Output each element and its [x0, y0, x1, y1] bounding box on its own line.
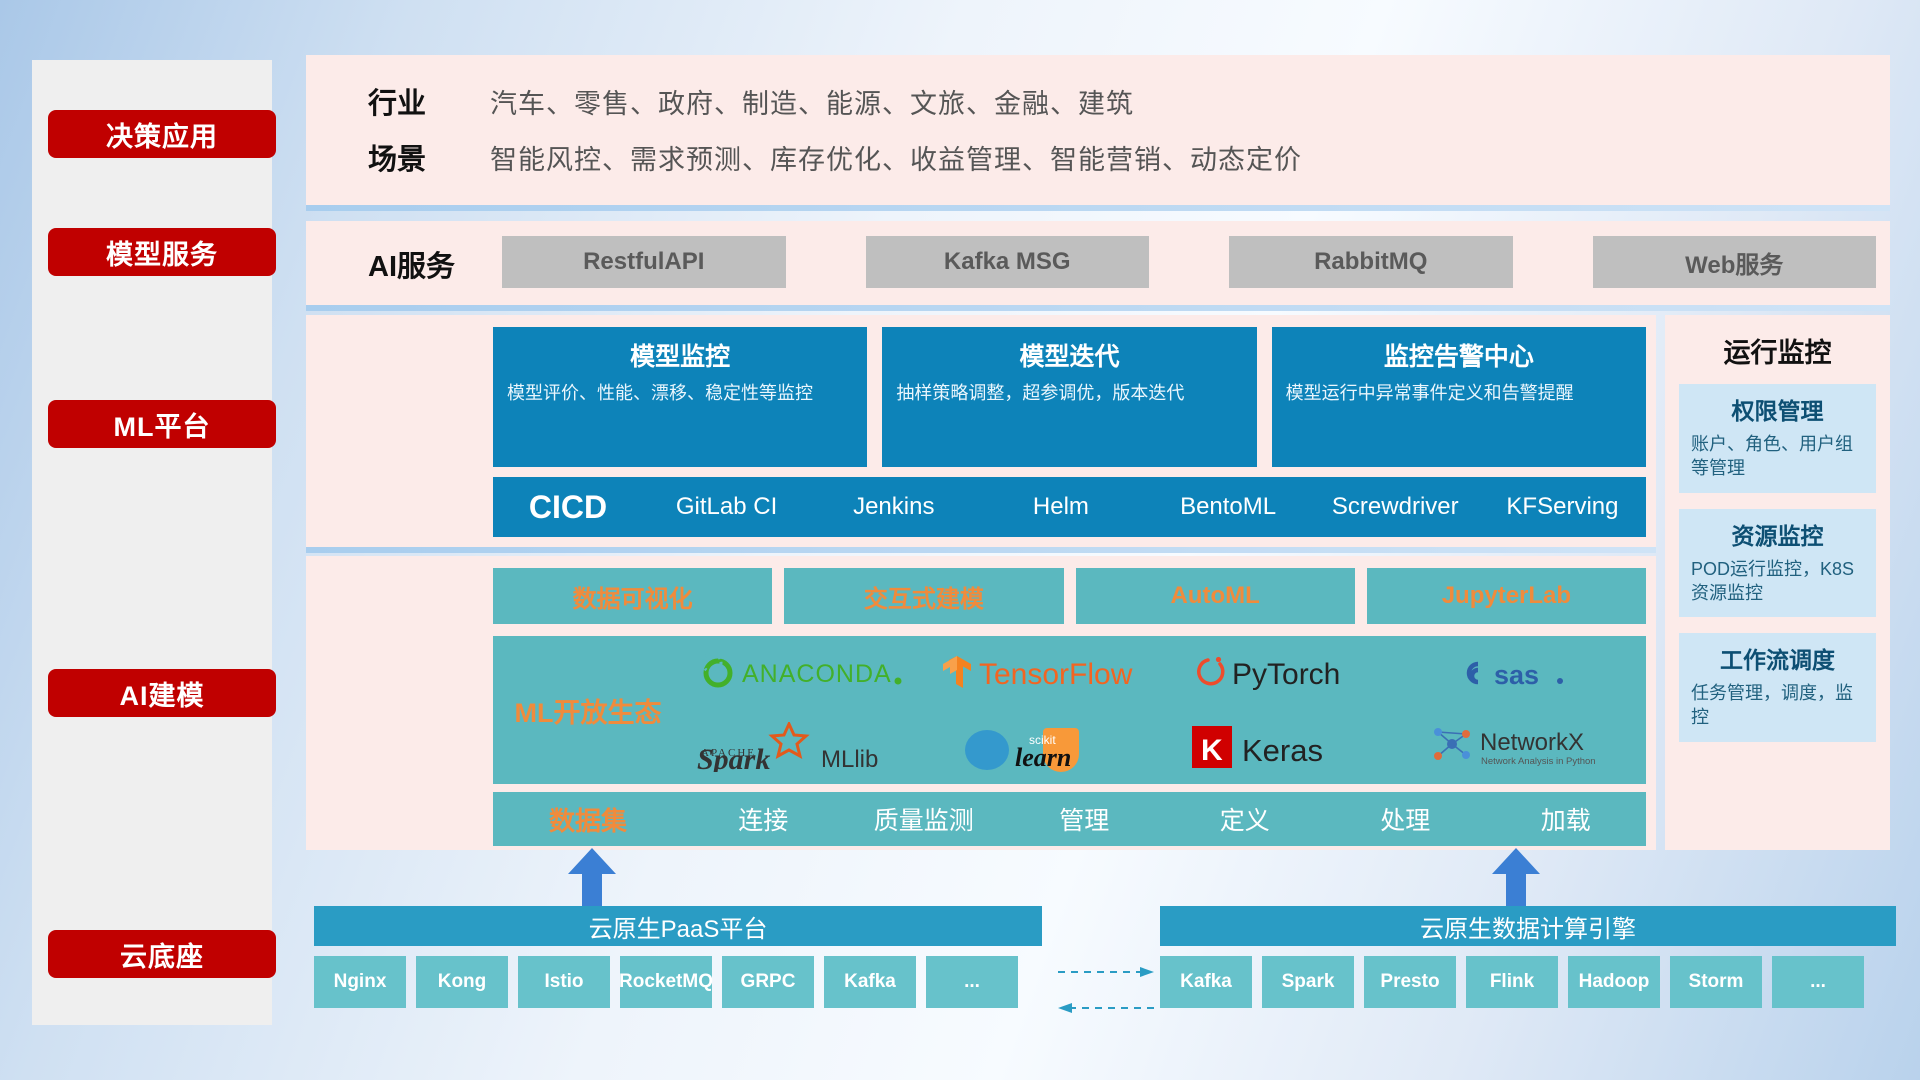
divider-2: [306, 305, 1890, 311]
monitoring-panel: 运行监控 权限管理 账户、角色、用户组等管理 资源监控 POD运行监控，K8S资…: [1665, 315, 1890, 850]
rail-item-ml-platform[interactable]: ML平台: [48, 400, 276, 448]
decision-value-industry: 汽车、零售、政府、制造、能源、文旅、金融、建筑: [490, 82, 1134, 121]
rail-item-ai-modeling[interactable]: AI建模: [48, 669, 276, 717]
service-chip-rabbitmq[interactable]: RabbitMQ: [1229, 236, 1513, 288]
rail-item-decision[interactable]: 决策应用: [48, 110, 276, 158]
tool-automl[interactable]: AutoML: [1076, 568, 1355, 624]
chip-nginx[interactable]: Nginx: [314, 956, 406, 1008]
service-chip-web[interactable]: Web服务: [1593, 236, 1877, 288]
diagram-root: 决策应用 模型服务 ML平台 AI建模 云底座 行业 汽车、零售、政府、制造、能…: [0, 0, 1920, 1080]
cicd-label: CICD: [493, 489, 643, 526]
mlops-card-alert-center[interactable]: 监控告警中心 模型运行中异常事件定义和告警提醒: [1272, 327, 1646, 467]
data-engine-chip-row: Kafka Spark Presto Flink Hadoop Storm ..…: [1160, 956, 1864, 1008]
mlops-card-title: 模型迭代: [896, 337, 1242, 373]
monitor-card-desc: 任务管理，调度，监控: [1691, 681, 1864, 730]
paas-bar[interactable]: 云原生PaaS平台: [314, 906, 1042, 946]
svg-text:TensorFlow: TensorFlow: [979, 658, 1133, 691]
dataset-item-manage[interactable]: 管理: [1004, 801, 1165, 837]
svg-text:NetworkX: NetworkX: [1480, 729, 1584, 756]
chip-flink[interactable]: Flink: [1466, 956, 1558, 1008]
service-chip-kafka-msg[interactable]: Kafka MSG: [866, 236, 1150, 288]
chip-more-left[interactable]: ...: [926, 956, 1018, 1008]
anaconda-logo: ANACONDA: [698, 653, 908, 693]
rail-item-model-service[interactable]: 模型服务: [48, 228, 276, 276]
service-chip-restfulapi[interactable]: RestfulAPI: [502, 236, 786, 288]
svg-text:K: K: [1201, 734, 1223, 767]
spark-mllib-logo: APACHE Spark MLlib: [693, 722, 913, 772]
cicd-item-screwdriver[interactable]: Screwdriver: [1312, 493, 1479, 521]
modeling-panel: 神州数码 ML LAB 数据可视化 交互式建模 AutoML JupyterLa…: [306, 556, 1656, 850]
divider-3: [306, 547, 1656, 553]
decision-layer-panel: 行业 汽车、零售、政府、制造、能源、文旅、金融、建筑 场景 智能风控、需求预测、…: [306, 55, 1890, 205]
chip-rocketmq[interactable]: RocketMQ: [620, 956, 712, 1008]
rail-item-cloud-base[interactable]: 云底座: [48, 930, 276, 978]
tool-jupyterlab[interactable]: JupyterLab: [1367, 568, 1646, 624]
monitoring-title: 运行监控: [1665, 315, 1890, 384]
chip-hadoop[interactable]: Hadoop: [1568, 956, 1660, 1008]
dataset-item-process[interactable]: 处理: [1325, 801, 1486, 837]
monitor-card-permission[interactable]: 权限管理 账户、角色、用户组等管理: [1679, 384, 1876, 493]
svg-text:ANACONDA: ANACONDA: [742, 660, 892, 688]
dataset-item-define[interactable]: 定义: [1165, 801, 1326, 837]
svg-text:Network Analysis in Python: Network Analysis in Python: [1481, 756, 1596, 767]
keras-logo: K Keras: [1190, 724, 1380, 770]
svg-text:learn: learn: [1015, 743, 1071, 772]
decision-row-industry: 行业 汽车、零售、政府、制造、能源、文旅、金融、建筑: [330, 73, 1890, 129]
decision-key-scenario: 场景: [330, 136, 490, 178]
monitor-card-title: 工作流调度: [1691, 641, 1864, 675]
data-engine-bar[interactable]: 云原生数据计算引擎: [1160, 906, 1896, 946]
monitor-card-title: 资源监控: [1691, 517, 1864, 551]
chip-kafka-right[interactable]: Kafka: [1160, 956, 1252, 1008]
networkx-logo: NetworkX Network Analysis in Python: [1426, 722, 1626, 772]
cicd-row: CICD GitLab CI Jenkins Helm BentoML Scre…: [493, 477, 1646, 537]
svg-text:Spark: Spark: [697, 743, 770, 772]
dataset-label: 数据集: [493, 801, 683, 838]
cicd-item-helm[interactable]: Helm: [977, 493, 1144, 521]
chip-kong[interactable]: Kong: [416, 956, 508, 1008]
cicd-item-jenkins[interactable]: Jenkins: [810, 493, 977, 521]
scikit-learn-logo: scikit learn: [949, 722, 1139, 772]
chip-kafka-left[interactable]: Kafka: [824, 956, 916, 1008]
dataset-row: 数据集 连接 质量监测 管理 定义 处理 加载: [493, 792, 1646, 846]
mlops-card-desc: 模型评价、性能、漂移、稳定性等监控: [507, 381, 853, 405]
mlops-card-title: 监控告警中心: [1286, 337, 1632, 373]
mlops-card-model-iteration[interactable]: 模型迭代 抽样策略调整，超参调优，版本迭代: [882, 327, 1256, 467]
dataset-item-connect[interactable]: 连接: [683, 801, 844, 837]
decision-value-scenario: 智能风控、需求预测、库存优化、收益管理、智能营销、动态定价: [490, 138, 1302, 177]
dataset-item-quality[interactable]: 质量监测: [844, 801, 1005, 837]
chip-grpc[interactable]: GRPC: [722, 956, 814, 1008]
monitor-card-workflow[interactable]: 工作流调度 任务管理，调度，监控: [1679, 633, 1876, 742]
arrow-up-right-icon: [1488, 848, 1544, 908]
divider-1: [306, 205, 1890, 211]
paas-chip-row: Nginx Kong Istio RocketMQ GRPC Kafka ...: [314, 956, 1018, 1008]
monitor-card-resource[interactable]: 资源监控 POD运行监控，K8S资源监控: [1679, 509, 1876, 618]
chip-presto[interactable]: Presto: [1364, 956, 1456, 1008]
svg-text:MLlib: MLlib: [821, 746, 878, 772]
svg-text:Keras: Keras: [1242, 733, 1323, 768]
monitor-card-desc: POD运行监控，K8S资源监控: [1691, 557, 1864, 606]
chip-istio[interactable]: Istio: [518, 956, 610, 1008]
mlops-card-desc: 模型运行中异常事件定义和告警提醒: [1286, 381, 1632, 405]
monitor-card-title: 权限管理: [1691, 392, 1864, 426]
service-layer-label: AI服务: [368, 243, 455, 285]
cicd-item-kfserving[interactable]: KFServing: [1479, 493, 1646, 521]
cicd-item-gitlab-ci[interactable]: GitLab CI: [643, 493, 810, 521]
chip-spark[interactable]: Spark: [1262, 956, 1354, 1008]
decision-row-scenario: 场景 智能风控、需求预测、库存优化、收益管理、智能营销、动态定价: [330, 129, 1890, 185]
cicd-item-bentoml[interactable]: BentoML: [1145, 493, 1312, 521]
chip-storm[interactable]: Storm: [1670, 956, 1762, 1008]
svg-text:PyTorch: PyTorch: [1232, 658, 1340, 691]
monitor-card-desc: 账户、角色、用户组等管理: [1691, 432, 1864, 481]
tool-interactive-modeling[interactable]: 交互式建模: [784, 568, 1063, 624]
cloud-foundation: 云原生PaaS平台 云原生数据计算引擎 Nginx Kong Istio Roc…: [306, 890, 1890, 1070]
svg-text:sas: sas: [1494, 660, 1539, 690]
mlops-card-desc: 抽样策略调整，超参调优，版本迭代: [896, 381, 1242, 405]
decision-key-industry: 行业: [330, 80, 490, 122]
layer-rail: [32, 60, 272, 1025]
chip-more-right[interactable]: ...: [1772, 956, 1864, 1008]
tool-data-visualization[interactable]: 数据可视化: [493, 568, 772, 624]
tensorflow-logo: TensorFlow: [937, 652, 1152, 694]
service-layer-panel: AI服务 RestfulAPI Kafka MSG RabbitMQ Web服务: [306, 221, 1890, 305]
mlops-panel: MLOps 模型监控 模型评价、性能、漂移、稳定性等监控 模型迭代 抽样策略调整…: [306, 315, 1656, 547]
ml-ecosystem-label: ML开放生态: [493, 691, 683, 730]
sas-logo: sas: [1456, 653, 1596, 693]
dashed-connector-icon: [1058, 964, 1156, 1020]
dataset-item-load[interactable]: 加载: [1486, 801, 1647, 837]
mlops-card-model-monitor[interactable]: 模型监控 模型评价、性能、漂移、稳定性等监控: [493, 327, 867, 467]
mlops-card-title: 模型监控: [507, 337, 853, 373]
arrow-up-left-icon: [564, 848, 620, 908]
pytorch-logo: PyTorch: [1192, 652, 1377, 694]
ml-ecosystem-row: ML开放生态 ANACONDA: [493, 636, 1646, 784]
